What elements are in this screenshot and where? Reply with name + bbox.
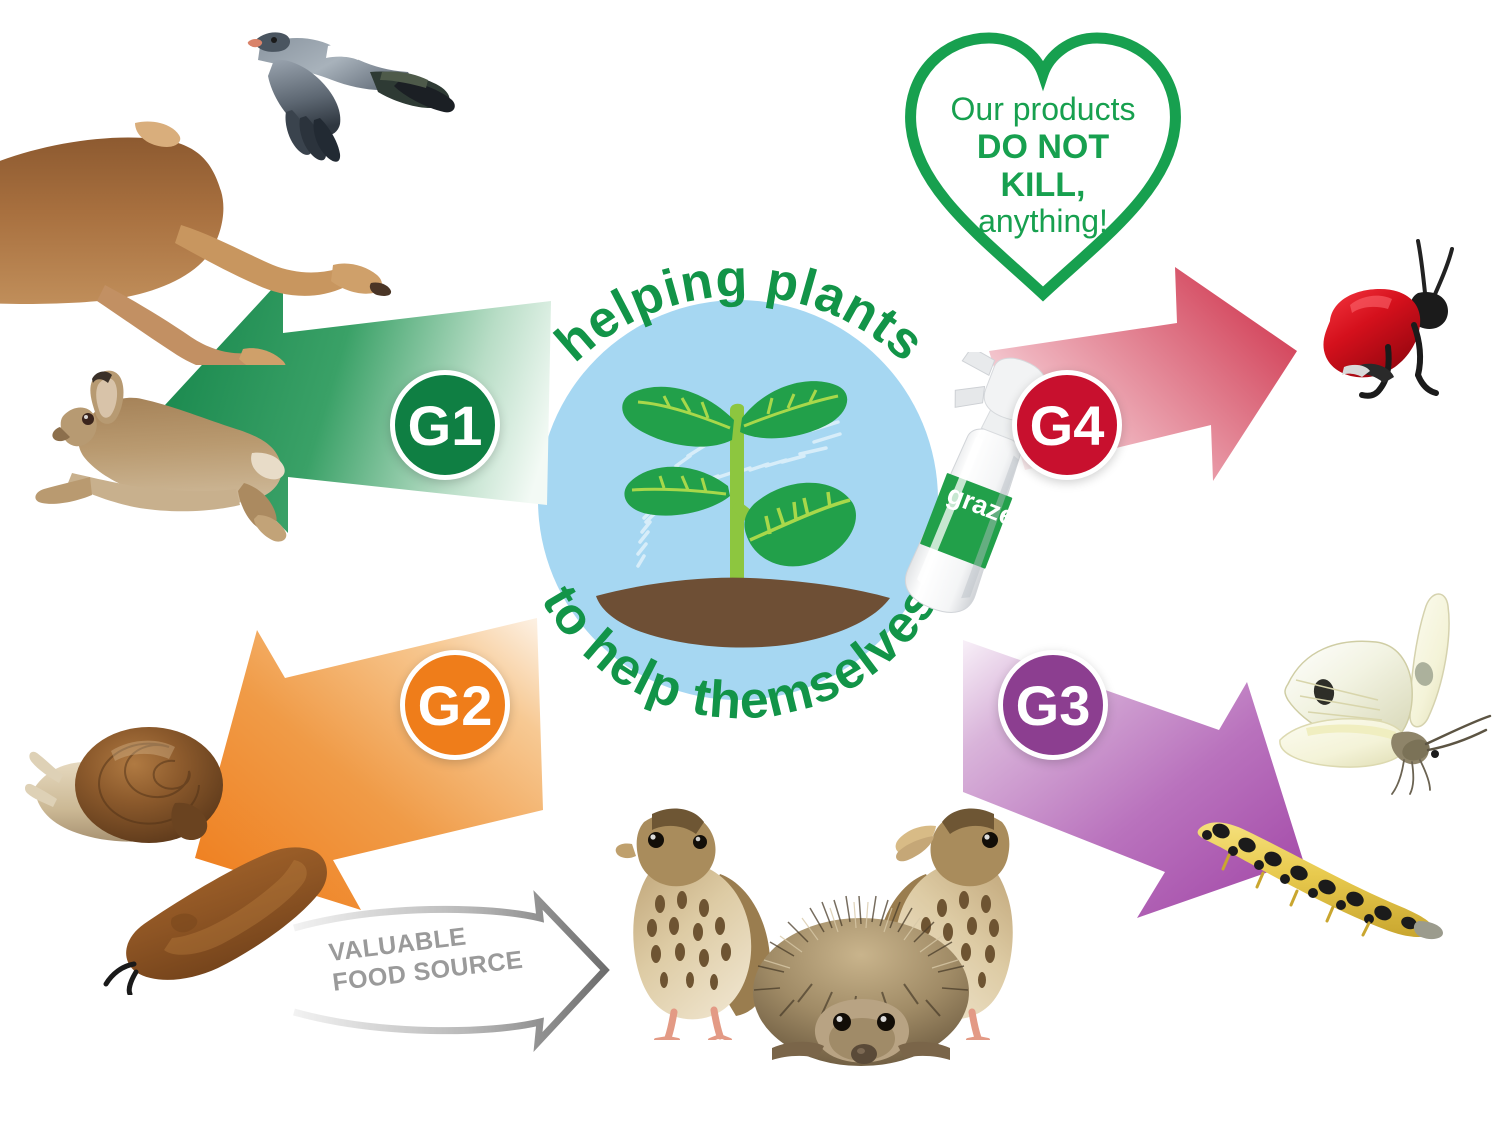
heart-line-4: anything! [893, 204, 1193, 240]
central-hub [538, 300, 938, 700]
hub-circle [538, 300, 938, 700]
badge-g3[interactable]: G3 [998, 650, 1108, 760]
butterfly-image [1258, 588, 1498, 803]
caterpillar-image [1185, 805, 1455, 940]
rabbit-image [30, 365, 330, 555]
wood-pigeon-image [240, 28, 455, 198]
badge-g2-label: G2 [418, 673, 493, 738]
heart-line-1: Our products [893, 92, 1193, 128]
lily-beetle-image [1296, 225, 1496, 410]
badge-g2[interactable]: G2 [400, 650, 510, 760]
heart-line-2: DO NOT [893, 128, 1193, 166]
badge-g4-label: G4 [1030, 393, 1105, 458]
no-kill-heart-badge: Our products DO NOT KILL, anything! [893, 22, 1193, 312]
slug-image [80, 840, 340, 995]
heart-line-3: KILL, [893, 166, 1193, 204]
plant-illustration [538, 300, 938, 700]
badge-g4[interactable]: G4 [1012, 370, 1122, 480]
badge-g3-label: G3 [1016, 673, 1091, 738]
infographic-canvas: G1 G4 G2 [0, 0, 1500, 1125]
heart-badge-text: Our products DO NOT KILL, anything! [893, 92, 1193, 240]
hedgehog-image [746, 880, 976, 1070]
badge-g1[interactable]: G1 [390, 370, 500, 480]
badge-g1-label: G1 [408, 393, 483, 458]
